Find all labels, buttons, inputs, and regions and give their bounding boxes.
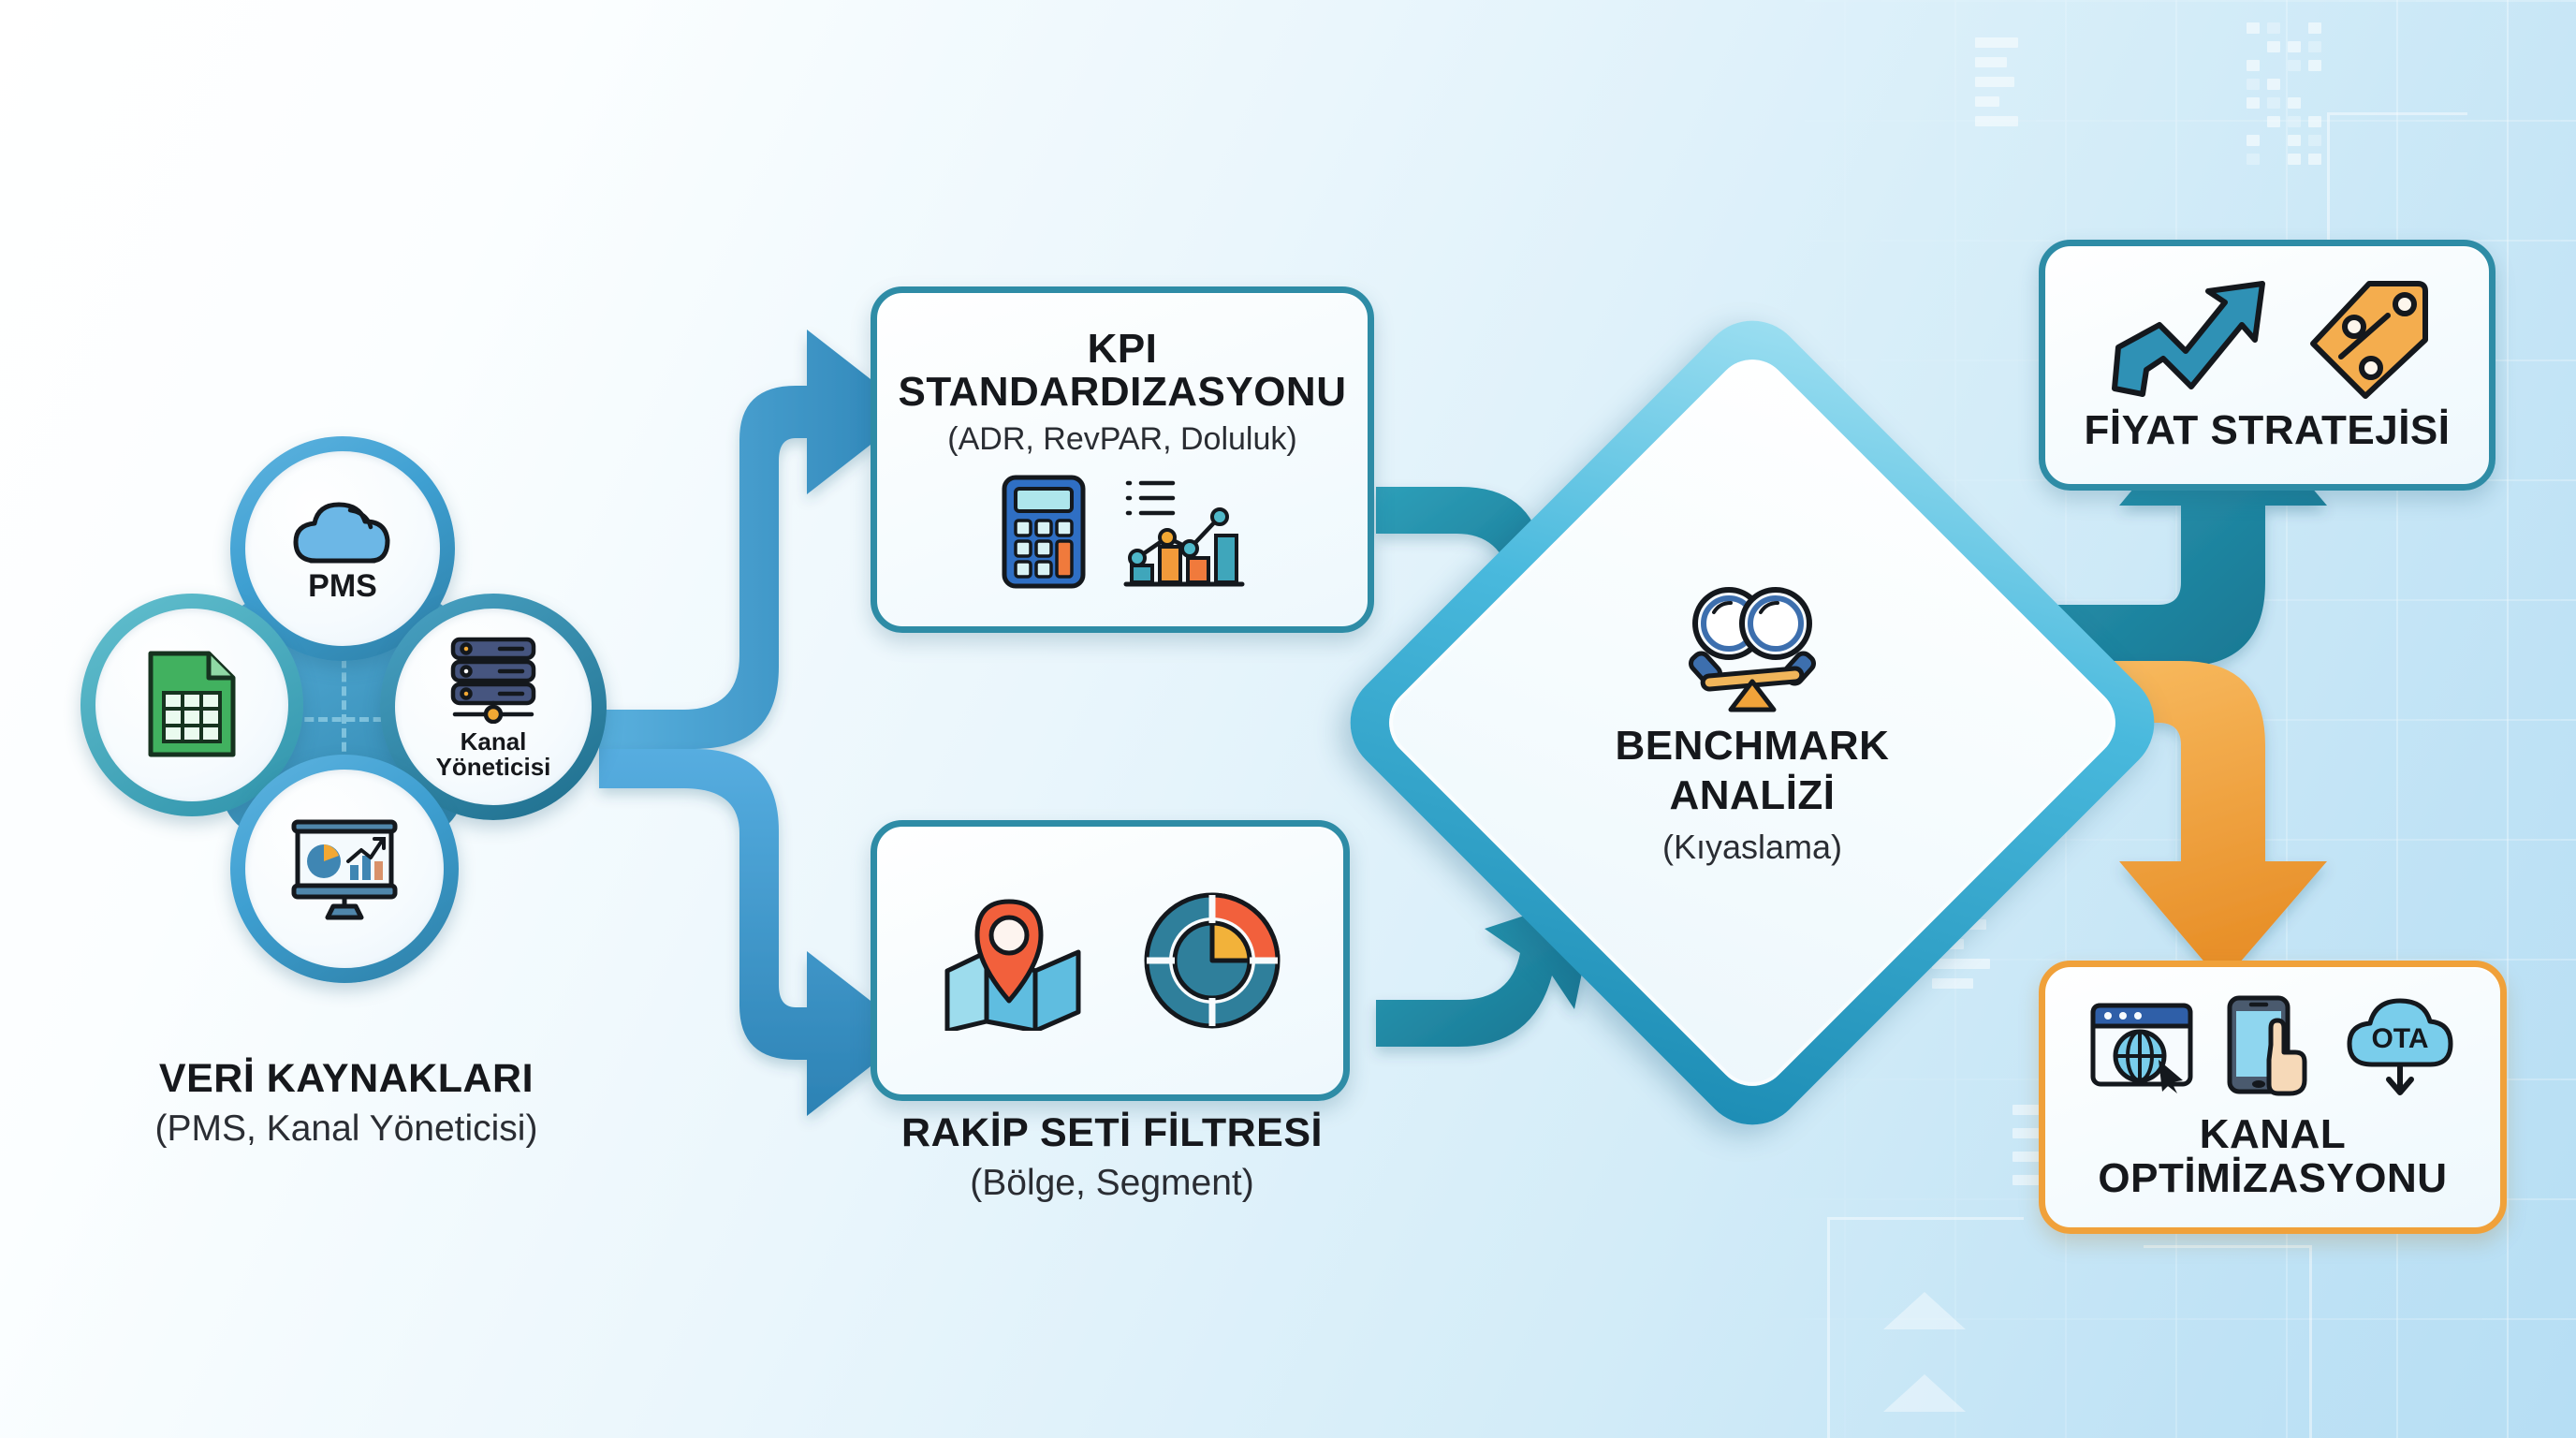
arrow-sources-to-kpi <box>599 330 913 749</box>
server-stack-icon <box>442 634 545 724</box>
kpi-title-line2: STANDARDIZASYONU <box>899 371 1347 415</box>
benchmark-title-line1: BENCHMARK <box>1616 725 1890 769</box>
pixel-pattern-top-right <box>2247 22 2321 165</box>
phone-tap-icon <box>2220 994 2318 1099</box>
kpi-box[interactable]: KPI STANDARDIZASYONU (ADR, RevPAR, Dolul… <box>871 286 1374 633</box>
trend-up-arrow-icon <box>2105 278 2270 400</box>
kpi-subtitle: (ADR, RevPAR, Doluluk) <box>947 421 1296 457</box>
channel-manager-caption-line2: Yöneticisi <box>436 755 551 780</box>
bar-pattern-top <box>1975 37 2018 126</box>
benchmark-diamond[interactable]: BENCHMARK ANALİZİ (Kıyaslama) <box>1453 423 2052 1022</box>
pms-caption: PMS <box>308 570 377 603</box>
arrow-sources-to-competitor <box>599 749 913 1116</box>
ota-label: OTA <box>2371 1023 2428 1054</box>
competitor-filter-label-title: RAKİP SETİ FİLTRESİ <box>822 1112 1402 1155</box>
channel-title-line2: OPTİMİZASYONU <box>2098 1157 2447 1201</box>
competitor-filter-label: RAKİP SETİ FİLTRESİ (Bölge, Segment) <box>822 1112 1402 1203</box>
channel-optimization-box[interactable]: OTA KANAL OPTİMİZASYONU <box>2039 961 2507 1234</box>
channel-title-line1: KANAL <box>2200 1113 2346 1157</box>
data-source-node-analytics[interactable] <box>230 755 459 983</box>
presentation-chart-icon <box>285 814 404 923</box>
cloud-icon <box>288 495 397 568</box>
two-magnifiers-balance-icon <box>1663 579 1841 713</box>
spreadsheet-icon <box>143 648 241 762</box>
data-sources-cluster[interactable]: PMS <box>80 436 605 998</box>
triangle-deco-1 <box>1883 1292 1966 1329</box>
data-sources-label-subtitle: (PMS, Kanal Yöneticisi) <box>56 1108 637 1150</box>
channel-manager-caption-line1: Kanal <box>436 729 551 755</box>
competitor-filter-box[interactable] <box>871 820 1350 1101</box>
competitor-filter-label-subtitle: (Bölge, Segment) <box>822 1163 1402 1204</box>
triangle-deco-2 <box>1883 1374 1966 1412</box>
circuit-line-2 <box>2144 1245 2312 1438</box>
ota-cloud-download-icon: OTA <box>2342 993 2458 1100</box>
pricing-strategy-box[interactable]: FİYAT STRATEJİSİ <box>2039 240 2495 491</box>
map-pin-icon <box>938 890 1088 1031</box>
calculator-icon <box>999 472 1089 592</box>
percent-tag-icon <box>2307 278 2429 400</box>
data-sources-label: VERİ KAYNAKLARI (PMS, Kanal Yöneticisi) <box>56 1058 637 1149</box>
browser-globe-icon <box>2087 998 2196 1095</box>
pricing-title: FİYAT STRATEJİSİ <box>2084 409 2450 453</box>
benchmark-subtitle: (Kıyaslama) <box>1662 829 1842 866</box>
donut-chart-icon <box>1142 890 1282 1031</box>
kpi-title-line1: KPI <box>1088 328 1158 372</box>
benchmark-title-line2: ANALİZİ <box>1669 774 1835 818</box>
bar-chart-trend-icon <box>1120 472 1246 592</box>
circuit-line-1 <box>1827 1217 2024 1438</box>
data-sources-label-title: VERİ KAYNAKLARI <box>56 1058 637 1101</box>
